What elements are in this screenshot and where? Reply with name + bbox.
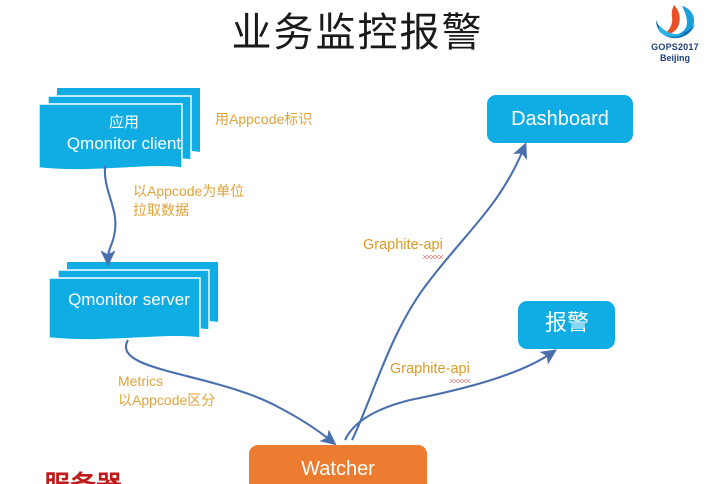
diagram-canvas: [0, 0, 715, 484]
spellcheck-squiggle-icon: api: [423, 236, 442, 255]
caption-metrics-line2: 以Appcode区分: [118, 391, 215, 410]
spellcheck-squiggle-icon: api: [450, 360, 469, 379]
caption-graphite-api-bottom: Graphite-api: [390, 360, 470, 379]
caption-pull-data: 以Appcode为单位 拉取数据: [133, 182, 244, 220]
caption-graphite-api-top-text: Graphite-: [363, 237, 423, 253]
qmonitor-client-shape[interactable]: [39, 88, 200, 170]
caption-pull-line1: 以Appcode为单位: [133, 182, 244, 201]
caption-appcode-identify: 用Appcode标识: [215, 110, 312, 129]
slide-canvas: 业务监控报警 GOPS2017 Beijing: [0, 0, 715, 484]
caption-metrics: Metrics 以Appcode区分: [118, 372, 215, 410]
arrow-client-to-server: [105, 166, 116, 258]
qmonitor-server-shape[interactable]: [49, 262, 218, 340]
caption-graphite-api-top: Graphite-api: [363, 236, 443, 255]
watcher-shape[interactable]: [249, 445, 427, 484]
alarm-shape[interactable]: [518, 301, 615, 349]
arrow-watcher-to-dashboard: [352, 150, 523, 440]
dashboard-shape[interactable]: [487, 95, 633, 143]
caption-metrics-line1: Metrics: [118, 372, 215, 391]
caption-graphite-api-bottom-text: Graphite-: [390, 361, 450, 377]
cut-off-red-heading: 服务器: [44, 470, 122, 484]
caption-pull-line2: 拉取数据: [133, 201, 244, 220]
